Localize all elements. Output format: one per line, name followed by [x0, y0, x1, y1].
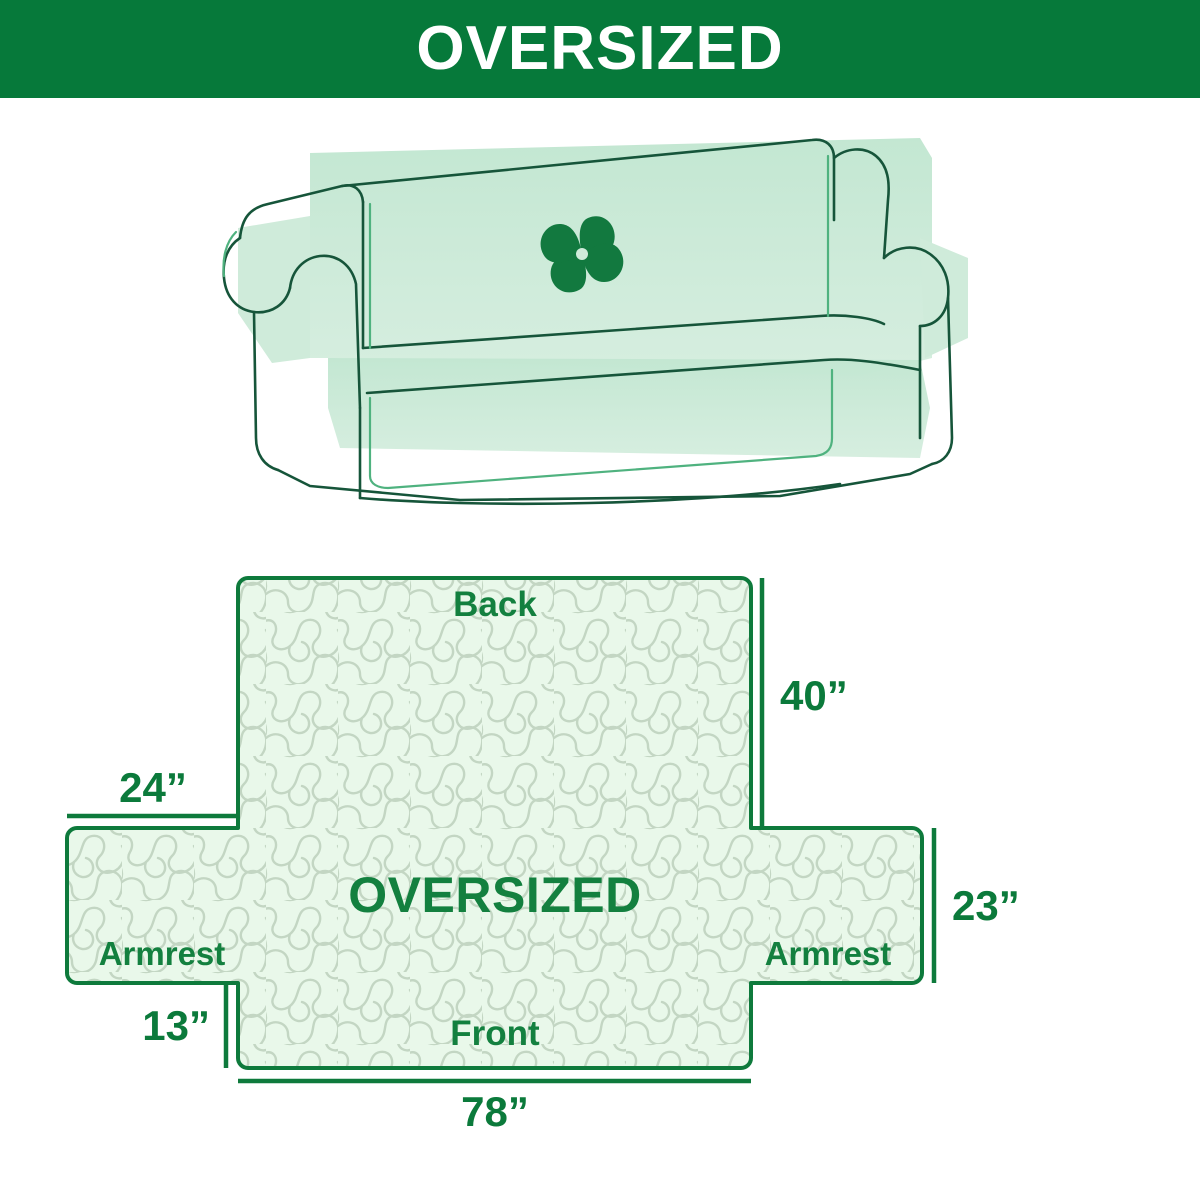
- label-armrest-left: Armrest: [99, 935, 226, 972]
- label-back: Back: [453, 585, 537, 624]
- dimension-value-seat-depth: 23”: [952, 882, 1020, 929]
- dimension-value-front-drop: 13”: [142, 1002, 210, 1049]
- dimension-value-armrest-width: 24”: [119, 764, 187, 811]
- label-armrest-right: Armrest: [765, 935, 892, 972]
- sofa-cover-left-arm-fill: [238, 216, 310, 363]
- sofa-cover-right-arm-fill: [920, 238, 968, 358]
- fan-icon-hub: [576, 248, 588, 260]
- header-banner: OVERSIZED: [0, 0, 1200, 98]
- dimension-value-back-height: 40”: [780, 672, 848, 719]
- cover-cross-shape: [67, 578, 922, 1068]
- cover-dimension-diagram: Back Front Armrest Armrest OVERSIZED 40”…: [50, 540, 1150, 1140]
- sofa-illustration-section: [0, 108, 1200, 528]
- banner-title: OVERSIZED: [416, 18, 783, 80]
- sofa-line-drawing: [220, 108, 980, 508]
- label-front: Front: [450, 1014, 540, 1053]
- sofa-skirt-curve: [360, 484, 840, 504]
- dimension-diagram-section: Back Front Armrest Armrest OVERSIZED 40”…: [0, 540, 1200, 1200]
- diagram-center-title: OVERSIZED: [348, 867, 641, 923]
- sofa-cover-left-arm-edge: [224, 232, 237, 276]
- sofa-base-bottom: [278, 464, 932, 500]
- dimension-value-total-width: 78”: [461, 1088, 529, 1135]
